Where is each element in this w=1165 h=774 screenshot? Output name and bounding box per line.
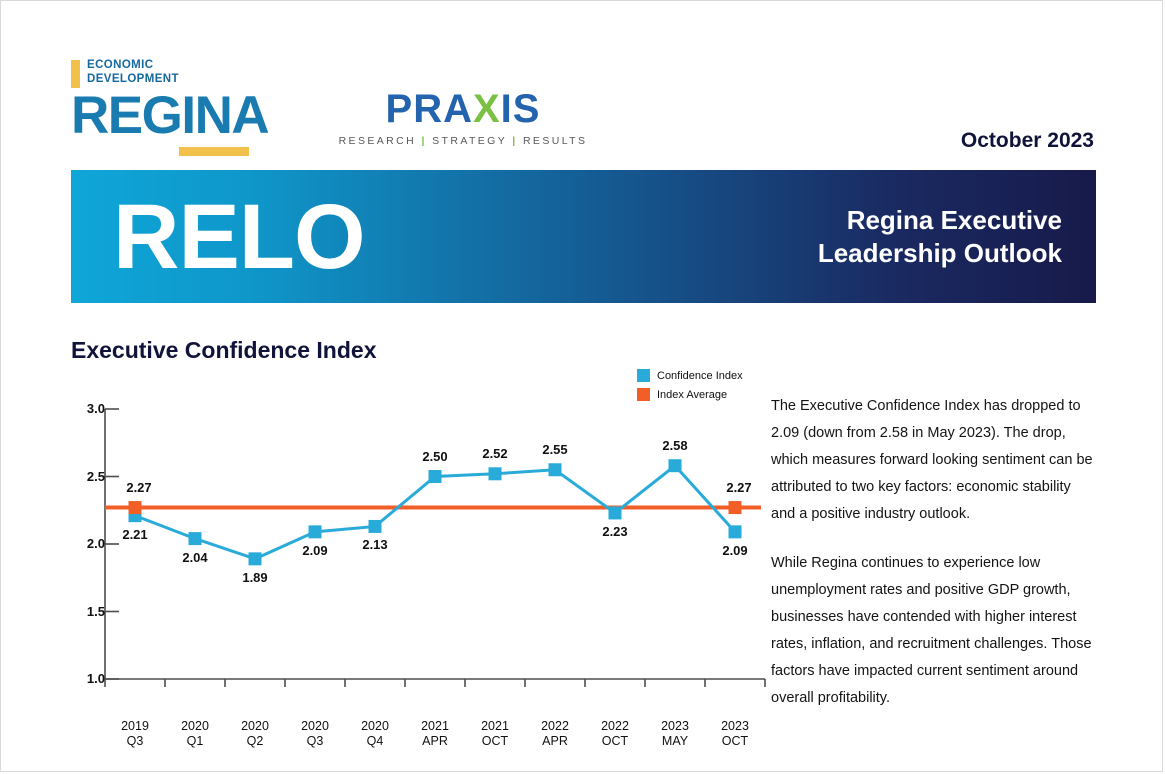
x-axis-category-year: 2019: [105, 719, 165, 734]
praxis-wordmark-part1: PRA: [386, 87, 473, 131]
logo-header-row: ECONOMIC DEVELOPMENT REGINA PRAXIS RESEA…: [1, 1, 1162, 166]
x-axis-tick-labels: 2019Q32020Q12020Q22020Q32020Q42021APR202…: [105, 719, 765, 749]
data-label-confidence-index: 2.09: [705, 543, 765, 558]
praxis-tagline-strategy: STRATEGY: [432, 135, 507, 147]
x-axis-category-period: OCT: [465, 734, 525, 749]
regina-gold-underline-icon: [179, 147, 249, 156]
x-axis-category-label: 2019Q3: [105, 719, 165, 749]
regina-eyebrow-line2: DEVELOPMENT: [87, 73, 179, 87]
data-label-confidence-index: 2.58: [645, 438, 705, 453]
x-axis-category-year: 2023: [705, 719, 765, 734]
relo-banner: RELO Regina Executive Leadership Outlook: [71, 170, 1096, 303]
praxis-tagline-separator-2: |: [512, 135, 517, 147]
x-axis-category-label: 2021OCT: [465, 719, 525, 749]
data-label-index-average: 2.27: [109, 480, 169, 495]
praxis-tagline-separator-1: |: [421, 135, 426, 147]
data-label-confidence-index: 2.52: [465, 446, 525, 461]
y-axis-tick-label: 3.0: [71, 401, 105, 416]
economic-development-regina-logo: ECONOMIC DEVELOPMENT REGINA: [71, 59, 301, 154]
data-label-confidence-index: 2.21: [105, 527, 165, 542]
regina-gold-bar-icon: [71, 60, 80, 88]
x-axis-category-label: 2020Q3: [285, 719, 345, 749]
banner-title-line2: Leadership Outlook: [818, 237, 1062, 270]
x-axis-category-year: 2021: [465, 719, 525, 734]
banner-title-line1: Regina Executive: [818, 204, 1062, 237]
data-label-confidence-index: 2.50: [405, 449, 465, 464]
page-title: Executive Confidence Index: [71, 337, 376, 364]
relo-acronym: RELO: [113, 191, 365, 283]
chart-plot-area: 1.01.52.02.53.0 2.212.041.892.092.132.50…: [71, 401, 771, 691]
x-axis-category-period: MAY: [645, 734, 705, 749]
praxis-logo: PRAXIS RESEARCH | STRATEGY | RESULTS: [323, 87, 603, 149]
x-axis-category-label: 2022OCT: [585, 719, 645, 749]
x-axis-category-period: Q2: [225, 734, 285, 749]
x-axis-category-year: 2022: [525, 719, 585, 734]
x-axis-category-year: 2021: [405, 719, 465, 734]
x-axis-category-label: 2020Q1: [165, 719, 225, 749]
data-label-confidence-index: 2.09: [285, 543, 345, 558]
x-axis-category-label: 2020Q4: [345, 719, 405, 749]
legend-item-confidence-index: Confidence Index: [637, 369, 743, 382]
x-axis-category-label: 2020Q2: [225, 719, 285, 749]
narrative-paragraph-2: While Regina continues to experience low…: [771, 550, 1099, 712]
praxis-wordmark: PRAXIS: [323, 87, 603, 131]
praxis-tagline-research: RESEARCH: [339, 135, 417, 147]
legend-label-confidence-index: Confidence Index: [657, 370, 743, 382]
y-axis-tick-label: 2.0: [71, 536, 105, 551]
x-axis-category-year: 2020: [225, 719, 285, 734]
x-axis-category-label: 2023OCT: [705, 719, 765, 749]
narrative-text: The Executive Confidence Index has dropp…: [771, 393, 1099, 734]
data-label-index-average: 2.27: [709, 480, 769, 495]
x-axis-category-year: 2023: [645, 719, 705, 734]
x-axis-category-period: Q3: [285, 734, 345, 749]
x-axis-category-period: Q3: [105, 734, 165, 749]
narrative-paragraph-1: The Executive Confidence Index has dropp…: [771, 393, 1099, 528]
praxis-tagline-results: RESULTS: [523, 135, 587, 147]
y-axis-tick-label: 2.5: [71, 469, 105, 484]
regina-eyebrow: ECONOMIC DEVELOPMENT: [71, 59, 301, 88]
x-axis-category-period: OCT: [585, 734, 645, 749]
data-label-confidence-index: 2.23: [585, 524, 645, 539]
legend-swatch-confidence-index: [637, 369, 650, 382]
x-axis-category-period: APR: [405, 734, 465, 749]
praxis-wordmark-part2: IS: [501, 87, 541, 131]
x-axis-category-period: Q4: [345, 734, 405, 749]
x-axis-category-year: 2020: [165, 719, 225, 734]
praxis-tagline: RESEARCH | STRATEGY | RESULTS: [323, 135, 603, 147]
x-axis-category-label: 2021APR: [405, 719, 465, 749]
executive-confidence-index-chart: Confidence Index Index Average 1.01.52.0…: [71, 361, 771, 731]
regina-wordmark: REGINA: [71, 89, 301, 143]
regina-eyebrow-line1: ECONOMIC: [87, 59, 179, 73]
x-axis-category-label: 2023MAY: [645, 719, 705, 749]
x-axis-category-year: 2022: [585, 719, 645, 734]
x-axis-category-label: 2022APR: [525, 719, 585, 749]
legend-swatch-index-average: [637, 388, 650, 401]
praxis-wordmark-x: X: [473, 87, 501, 131]
x-axis-category-period: Q1: [165, 734, 225, 749]
data-label-confidence-index: 2.55: [525, 442, 585, 457]
x-axis-category-period: APR: [525, 734, 585, 749]
banner-title: Regina Executive Leadership Outlook: [818, 204, 1062, 270]
data-label-confidence-index: 2.04: [165, 550, 225, 565]
y-axis-tick-label: 1.0: [71, 671, 105, 686]
legend-item-index-average: Index Average: [637, 388, 743, 401]
x-axis-category-year: 2020: [345, 719, 405, 734]
x-axis-category-period: OCT: [705, 734, 765, 749]
issue-date: October 2023: [961, 129, 1094, 153]
data-label-confidence-index: 1.89: [225, 570, 285, 585]
legend-label-index-average: Index Average: [657, 389, 727, 401]
y-axis-tick-label: 1.5: [71, 604, 105, 619]
data-label-confidence-index: 2.13: [345, 537, 405, 552]
report-page: ECONOMIC DEVELOPMENT REGINA PRAXIS RESEA…: [0, 0, 1163, 772]
x-axis-category-year: 2020: [285, 719, 345, 734]
